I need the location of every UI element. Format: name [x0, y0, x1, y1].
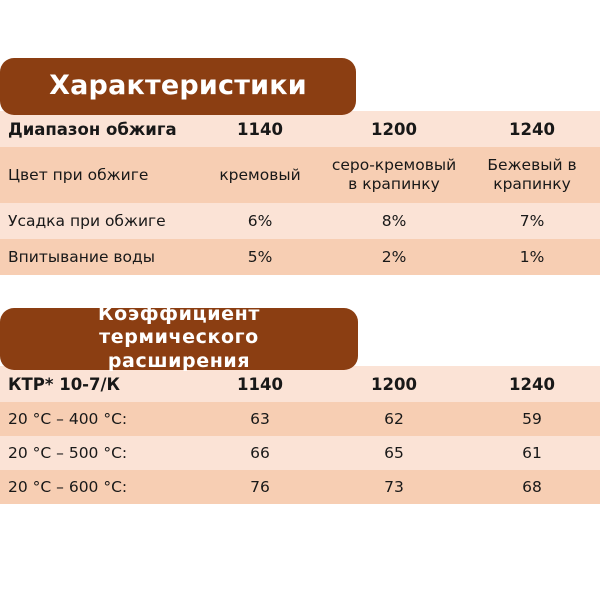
- cell-500-1240: 61: [464, 436, 600, 470]
- table-header-row: Диапазон обжига 1140 1200 1240: [0, 111, 600, 147]
- table-row: Усадка при обжиге 6% 8% 7%: [0, 203, 600, 239]
- row-label-400: 20 °C – 400 °C:: [0, 402, 196, 436]
- cell-color-1140: кремовый: [196, 147, 324, 203]
- cell-500-1140: 66: [196, 436, 324, 470]
- header-cell-1140: 1140: [196, 111, 324, 147]
- cell-text: Бежевый в крапинку: [464, 156, 600, 193]
- header-cell-1240: 1240: [464, 111, 600, 147]
- row-label-absorption: Впитывание воды: [0, 239, 196, 275]
- cell-absorption-1240: 1%: [464, 239, 600, 275]
- row-label-500: 20 °C – 500 °C:: [0, 436, 196, 470]
- cell-400-1240: 59: [464, 402, 600, 436]
- section-title-line1: Коэффициент термического: [98, 303, 260, 348]
- table-row: 20 °C – 400 °C: 63 62 59: [0, 402, 600, 436]
- table-row: 20 °C – 500 °C: 66 65 61: [0, 436, 600, 470]
- cell-400-1140: 63: [196, 402, 324, 436]
- cell-absorption-1200: 2%: [324, 239, 464, 275]
- cell-shrinkage-1140: 6%: [196, 203, 324, 239]
- section-title-text: Характеристики: [49, 70, 307, 101]
- cell-shrinkage-1200: 8%: [324, 203, 464, 239]
- cell-text: серо-кремовый в крапинку: [324, 156, 464, 193]
- cell-color-1240: Бежевый в крапинку: [464, 147, 600, 203]
- cell-600-1240: 68: [464, 470, 600, 504]
- cell-color-1200: серо-кремовый в крапинку: [324, 147, 464, 203]
- section-title-badge-thermal-expansion: Коэффициент термического расширения: [0, 308, 358, 370]
- header-cell-label: Диапазон обжига: [0, 111, 196, 147]
- header-cell-1240: 1240: [464, 366, 600, 402]
- thermal-expansion-table: КТР* 10-7/К 1140 1200 1240 20 °C – 400 °…: [0, 366, 600, 504]
- header-cell-1200: 1200: [324, 366, 464, 402]
- cell-text: кремовый: [196, 166, 324, 185]
- cell-400-1200: 62: [324, 402, 464, 436]
- row-label-color: Цвет при обжиге: [0, 147, 196, 203]
- table-row: Впитывание воды 5% 2% 1%: [0, 239, 600, 275]
- characteristics-table: Диапазон обжига 1140 1200 1240 Цвет при …: [0, 111, 600, 275]
- section-title-text: Коэффициент термического расширения: [16, 303, 342, 373]
- table-row: 20 °C – 600 °C: 76 73 68: [0, 470, 600, 504]
- cell-600-1140: 76: [196, 470, 324, 504]
- section-title-line2: расширения: [108, 350, 250, 372]
- cell-shrinkage-1240: 7%: [464, 203, 600, 239]
- cell-600-1200: 73: [324, 470, 464, 504]
- section-title-badge-characteristics: Характеристики: [0, 58, 356, 115]
- section-characteristics: Характеристики Диапазон обжига 1140 1200…: [0, 58, 600, 275]
- section-thermal-expansion: Коэффициент термического расширения КТР*…: [0, 308, 600, 504]
- row-label-600: 20 °C – 600 °C:: [0, 470, 196, 504]
- page-root: Характеристики Диапазон обжига 1140 1200…: [0, 0, 600, 600]
- row-label-shrinkage: Усадка при обжиге: [0, 203, 196, 239]
- header-cell-1200: 1200: [324, 111, 464, 147]
- table-row: Цвет при обжиге кремовый серо-кремовый в…: [0, 147, 600, 203]
- cell-500-1200: 65: [324, 436, 464, 470]
- cell-absorption-1140: 5%: [196, 239, 324, 275]
